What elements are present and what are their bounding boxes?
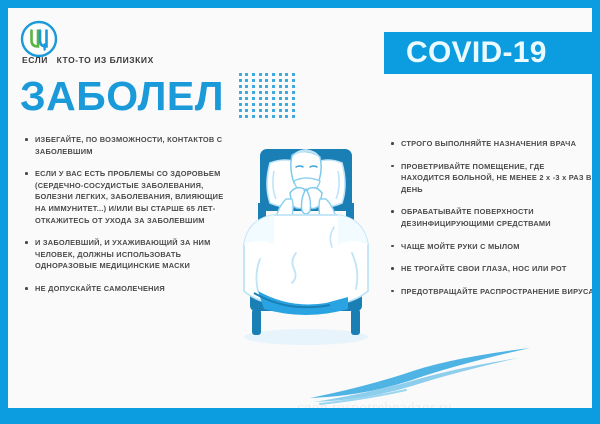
dot-grid-cell — [285, 97, 288, 100]
dot-grid-cell — [265, 91, 268, 94]
dot-grid-cell — [252, 73, 255, 76]
recommendation-item: И ЗАБОЛЕВШИЙ, И УХАЖИВАЮЩИЙ ЗА НИМ ЧЕЛОВ… — [24, 237, 224, 272]
dot-grid-cell — [265, 97, 268, 100]
dot-grid-cell — [265, 109, 268, 112]
dot-grid-cell — [292, 85, 295, 88]
dot-grid-cell — [279, 91, 282, 94]
dot-grid-cell — [272, 91, 275, 94]
dot-grid-cell — [279, 115, 282, 118]
dot-grid-cell — [259, 103, 262, 106]
recommendation-item: СТРОГО ВЫПОЛНЯЙТЕ НАЗНАЧЕНИЯ ВРАЧА — [390, 138, 592, 150]
poster-canvas: ЕСЛИ КТО-ТО ИЗ БЛИЗКИХ ЗАБОЛЕЛ COVID-19 … — [8, 8, 592, 408]
dot-grid-cell — [285, 115, 288, 118]
dot-grid-cell — [265, 79, 268, 82]
dot-grid-cell — [245, 73, 248, 76]
poster-frame: ЕСЛИ КТО-ТО ИЗ БЛИЗКИХ ЗАБОЛЕЛ COVID-19 … — [0, 0, 600, 424]
dot-grid-cell — [239, 115, 242, 118]
dot-grid-cell — [252, 79, 255, 82]
dot-grid-cell — [292, 79, 295, 82]
dot-grid-cell — [239, 109, 242, 112]
dot-grid-cell — [245, 85, 248, 88]
dot-grid-cell — [245, 97, 248, 100]
dot-grid-cell — [272, 115, 275, 118]
dot-grid-cell — [259, 85, 262, 88]
dot-grid-cell — [239, 97, 242, 100]
dot-grid-cell — [252, 85, 255, 88]
dot-grid-cell — [252, 97, 255, 100]
dot-grid-cell — [292, 115, 295, 118]
recommendation-item: ОБРАБАТЫВАЙТЕ ПОВЕРХНОСТИ ДЕЗИНФИЦИРУЮЩИ… — [390, 206, 592, 229]
covid-banner-label: COVID-19 — [384, 36, 547, 70]
dot-grid-cell — [252, 103, 255, 106]
dot-grid-cell — [272, 73, 275, 76]
poster-headline: ЗАБОЛЕЛ — [20, 76, 224, 117]
dot-grid-cell — [239, 103, 242, 106]
dot-grid-cell — [239, 91, 242, 94]
dot-grid-cell — [259, 79, 262, 82]
dot-grid-cell — [245, 91, 248, 94]
dot-grid-cell — [279, 79, 282, 82]
dot-grid-cell — [259, 97, 262, 100]
dot-grid-cell — [259, 109, 262, 112]
rospotrebnadzor-logo — [20, 20, 58, 58]
swoosh-decoration — [308, 344, 533, 406]
dot-grid-cell — [265, 115, 268, 118]
site-watermark: cgon.rospotrebnadzor.ru — [297, 400, 452, 408]
dot-grid-cell — [279, 85, 282, 88]
dot-grid-cell — [252, 109, 255, 112]
dot-grid-cell — [272, 79, 275, 82]
dot-grid-cell — [292, 109, 295, 112]
dot-grid-decoration — [237, 71, 297, 119]
right-recommendations-list: СТРОГО ВЫПОЛНЯЙТЕ НАЗНАЧЕНИЯ ВРАЧАПРОВЕТ… — [390, 138, 592, 308]
dot-grid-cell — [265, 85, 268, 88]
dot-grid-cell — [292, 91, 295, 94]
dot-grid-cell — [285, 85, 288, 88]
dot-grid-cell — [292, 73, 295, 76]
poster-kicker: ЕСЛИ КТО-ТО ИЗ БЛИЗКИХ — [22, 55, 154, 65]
dot-grid-cell — [245, 103, 248, 106]
dot-grid-cell — [285, 109, 288, 112]
recommendation-item: ПРОВЕТРИВАЙТЕ ПОМЕЩЕНИЕ, ГДЕ НАХОДИТСЯ Б… — [390, 161, 592, 196]
dot-grid-cell — [245, 109, 248, 112]
dot-grid-cell — [279, 109, 282, 112]
dot-grid-cell — [272, 85, 275, 88]
dot-grid-cell — [239, 85, 242, 88]
dot-grid-cell — [285, 79, 288, 82]
dot-grid-cell — [292, 97, 295, 100]
dot-grid-cell — [239, 79, 242, 82]
dot-grid-cell — [265, 103, 268, 106]
dot-grid-cell — [259, 115, 262, 118]
recommendation-item: НЕ ДОПУСКАЙТЕ САМОЛЕЧЕНИЯ — [24, 283, 224, 295]
dot-grid-cell — [245, 115, 248, 118]
dot-grid-cell — [239, 73, 242, 76]
dot-grid-cell — [285, 103, 288, 106]
dot-grid-cell — [259, 73, 262, 76]
dot-grid-cell — [252, 91, 255, 94]
dot-grid-cell — [279, 73, 282, 76]
dot-grid-cell — [285, 91, 288, 94]
dot-grid-cell — [252, 115, 255, 118]
dot-grid-cell — [272, 97, 275, 100]
recommendation-item: ИЗБЕГАЙТЕ, ПО ВОЗМОЖНОСТИ, КОНТАКТОВ С З… — [24, 134, 224, 157]
dot-grid-cell — [272, 109, 275, 112]
dot-grid-cell — [279, 97, 282, 100]
recommendation-item: ЧАЩЕ МОЙТЕ РУКИ С МЫЛОМ — [390, 241, 592, 253]
covid-banner: COVID-19 — [384, 32, 592, 74]
dot-grid-cell — [292, 103, 295, 106]
dot-grid-cell — [285, 73, 288, 76]
dot-grid-cell — [279, 103, 282, 106]
recommendation-item: ЕСЛИ У ВАС ЕСТЬ ПРОБЛЕМЫ СО ЗДОРОВЬЕМ (С… — [24, 168, 224, 226]
recommendation-item: НЕ ТРОГАЙТЕ СВОИ ГЛАЗА, НОС ИЛИ РОТ — [390, 263, 592, 275]
dot-grid-cell — [259, 91, 262, 94]
recommendation-item: ПРЕДОТВРАЩАЙТЕ РАСПРОСТРАНЕНИЕ ВИРУСА — [390, 286, 592, 298]
sick-person-in-bed-illustration — [230, 141, 382, 347]
left-recommendations-list: ИЗБЕГАЙТЕ, ПО ВОЗМОЖНОСТИ, КОНТАКТОВ С З… — [24, 134, 224, 306]
dot-grid-cell — [265, 73, 268, 76]
dot-grid-cell — [272, 103, 275, 106]
dot-grid-cell — [245, 79, 248, 82]
